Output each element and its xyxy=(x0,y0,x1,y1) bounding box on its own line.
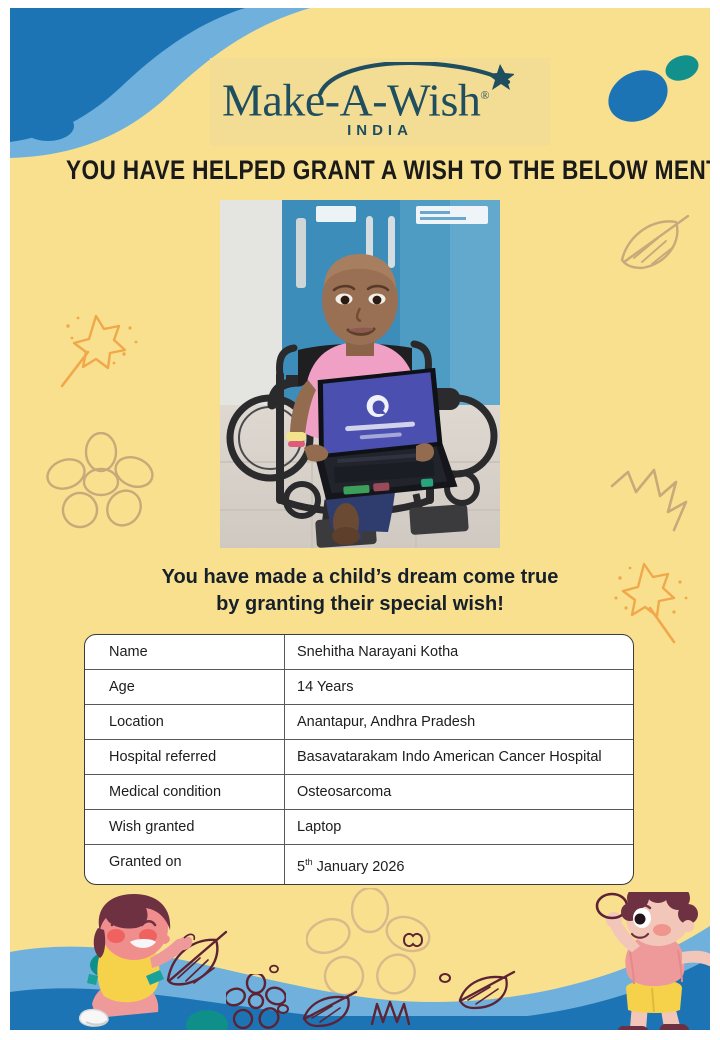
row-value: 14 Years xyxy=(285,670,633,704)
table-row: Location Anantapur, Andhra Pradesh xyxy=(85,705,633,740)
row-value: Anantapur, Andhra Pradesh xyxy=(285,705,633,739)
table-row: Age 14 Years xyxy=(85,670,633,705)
row-label: Age xyxy=(85,670,285,704)
poster-card: Make-A-Wish® INDIA YOU HAVE HELPED GRANT… xyxy=(10,8,710,1030)
logo-wordmark-group: Make-A-Wish® xyxy=(222,66,538,124)
flower-doodle-bottom-right xyxy=(400,928,426,952)
row-label: Medical condition xyxy=(85,775,285,809)
wand-doodle-left xyxy=(58,308,148,393)
leaf-doodle-bottom-center xyxy=(298,988,366,1030)
wish-certificate-poster: Make-A-Wish® INDIA YOU HAVE HELPED GRANT… xyxy=(0,0,720,1040)
row-label: Location xyxy=(85,705,285,739)
dot-doodle-bottom-right xyxy=(436,970,454,986)
row-label: Wish granted xyxy=(85,810,285,844)
page-title: YOU HAVE HELPED GRANT A WISH TO THE BELO… xyxy=(66,154,654,186)
wand-doodle-right xyxy=(608,556,698,646)
logo-text: Make-A-Wish® xyxy=(222,72,489,123)
registered-mark: ® xyxy=(480,88,489,102)
make-a-wish-logo: Make-A-Wish® INDIA xyxy=(210,58,550,146)
table-row: Hospital referred Basavatarakam Indo Ame… xyxy=(85,740,633,775)
flower-doodle-left xyxy=(46,432,156,532)
table-row: Medical condition Osteosarcoma xyxy=(85,775,633,810)
row-value: Laptop xyxy=(285,810,633,844)
row-label: Hospital referred xyxy=(85,740,285,774)
dot-doodle-bottom-center xyxy=(266,962,282,976)
tagline: You have made a child’s dream come true … xyxy=(10,564,710,618)
boy-illustration xyxy=(590,892,710,1030)
row-label: Name xyxy=(85,635,285,669)
row-value: Basavatarakam Indo American Cancer Hospi… xyxy=(285,740,633,774)
row-value: Osteosarcoma xyxy=(285,775,633,809)
dot-doodle-bottom-left xyxy=(274,1001,292,1017)
tagline-line-2: by granting their special wish! xyxy=(10,591,710,618)
girl-illustration xyxy=(66,892,196,1030)
leaf-doodle-right xyxy=(610,208,700,278)
wish-child-photo: Snapchat xyxy=(220,200,500,548)
blob-top-right xyxy=(590,38,710,128)
tagline-line-1: You have made a child’s dream come true xyxy=(10,564,710,591)
row-value: Snehitha Narayani Kotha xyxy=(285,635,633,669)
zigzag-doodle-right xyxy=(610,468,700,538)
squiggle-doodle-bottom-center xyxy=(368,996,414,1028)
leaf-doodle-bottom-right xyxy=(454,968,522,1016)
table-row: Name Snehitha Narayani Kotha xyxy=(85,635,633,670)
